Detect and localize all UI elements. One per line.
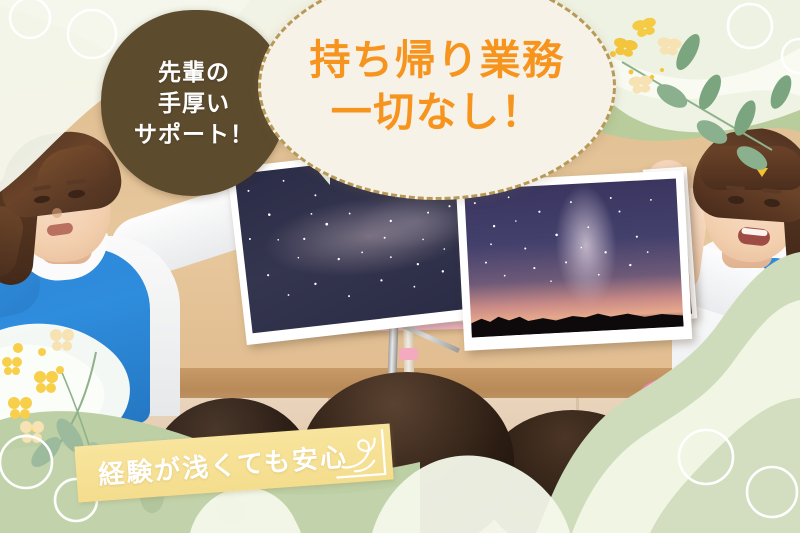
- no-takehome-line-2: 一切なし！: [331, 87, 544, 138]
- support-line-2: 手厚い: [158, 89, 230, 117]
- flourish-ornament-icon: [326, 426, 390, 482]
- support-line-3: サポート！: [134, 120, 254, 148]
- support-line-1: 先輩の: [158, 58, 230, 86]
- table-clip: [399, 348, 418, 361]
- milky-way-photo-right: [456, 170, 693, 351]
- starfield-right: [464, 179, 666, 316]
- teacher-right-mouth: [737, 226, 771, 246]
- banner-canvas: 先輩の 手厚い サポート！ 持ち帰り業務 一切なし！ 経験が浅くても安心: [0, 0, 800, 533]
- experience-ok-text: 経験が浅くても安心: [97, 436, 349, 491]
- no-takehome-line-1: 持ち帰り業務: [310, 35, 565, 86]
- teacher-left-nose: [52, 208, 62, 218]
- teacher-right-bangs: [700, 146, 800, 190]
